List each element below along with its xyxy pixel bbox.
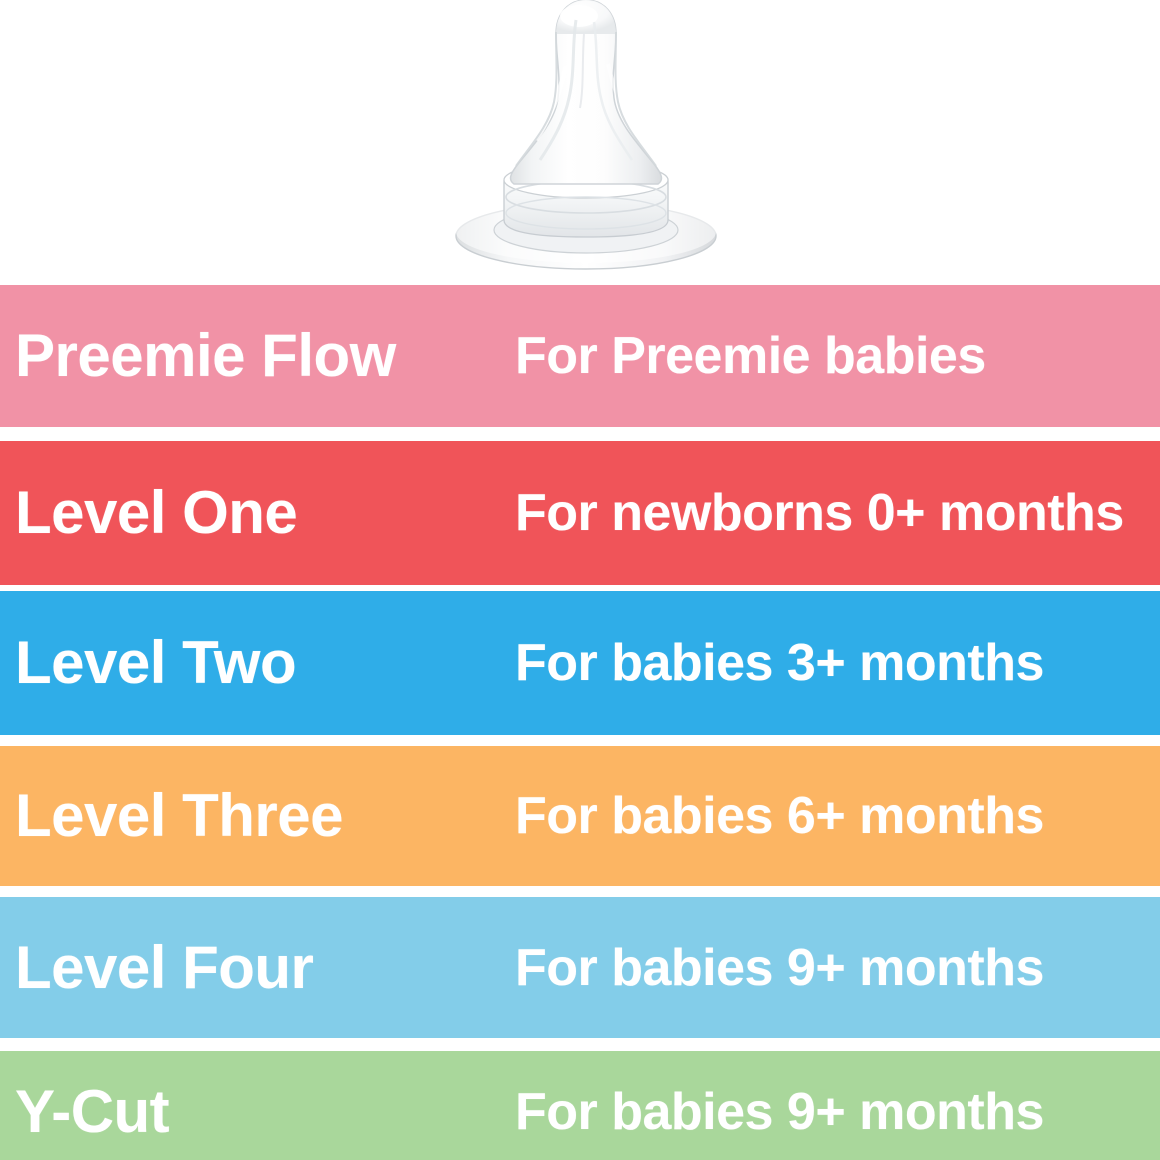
product-image-area [0,0,1160,285]
flow-level-label: Level Four [0,938,515,998]
flow-row-level-four: Level Four For babies 9+ months [0,897,1160,1038]
flow-level-label: Preemie Flow [0,326,515,386]
flow-level-label: Level One [0,483,515,543]
flow-row-level-one: Level One For newborns 0+ months [0,441,1160,585]
flow-level-label: Y-Cut [0,1082,515,1142]
flow-level-label: Level Two [0,633,515,693]
flow-level-description: For babies 9+ months [515,1086,1160,1138]
flow-level-chart: Preemie Flow For Preemie babies Level On… [0,0,1160,1160]
flow-level-description: For babies 6+ months [515,790,1160,842]
flow-row-preemie: Preemie Flow For Preemie babies [0,285,1160,427]
flow-level-label: Level Three [0,786,515,846]
flow-level-description: For babies 9+ months [515,942,1160,994]
flow-level-description: For babies 3+ months [515,637,1160,689]
bottle-nipple-image [448,0,724,279]
flow-level-description: For newborns 0+ months [515,487,1160,539]
flow-row-y-cut: Y-Cut For babies 9+ months [0,1051,1160,1160]
flow-level-description: For Preemie babies [515,330,1160,382]
flow-row-level-two: Level Two For babies 3+ months [0,591,1160,735]
flow-row-level-three: Level Three For babies 6+ months [0,746,1160,886]
